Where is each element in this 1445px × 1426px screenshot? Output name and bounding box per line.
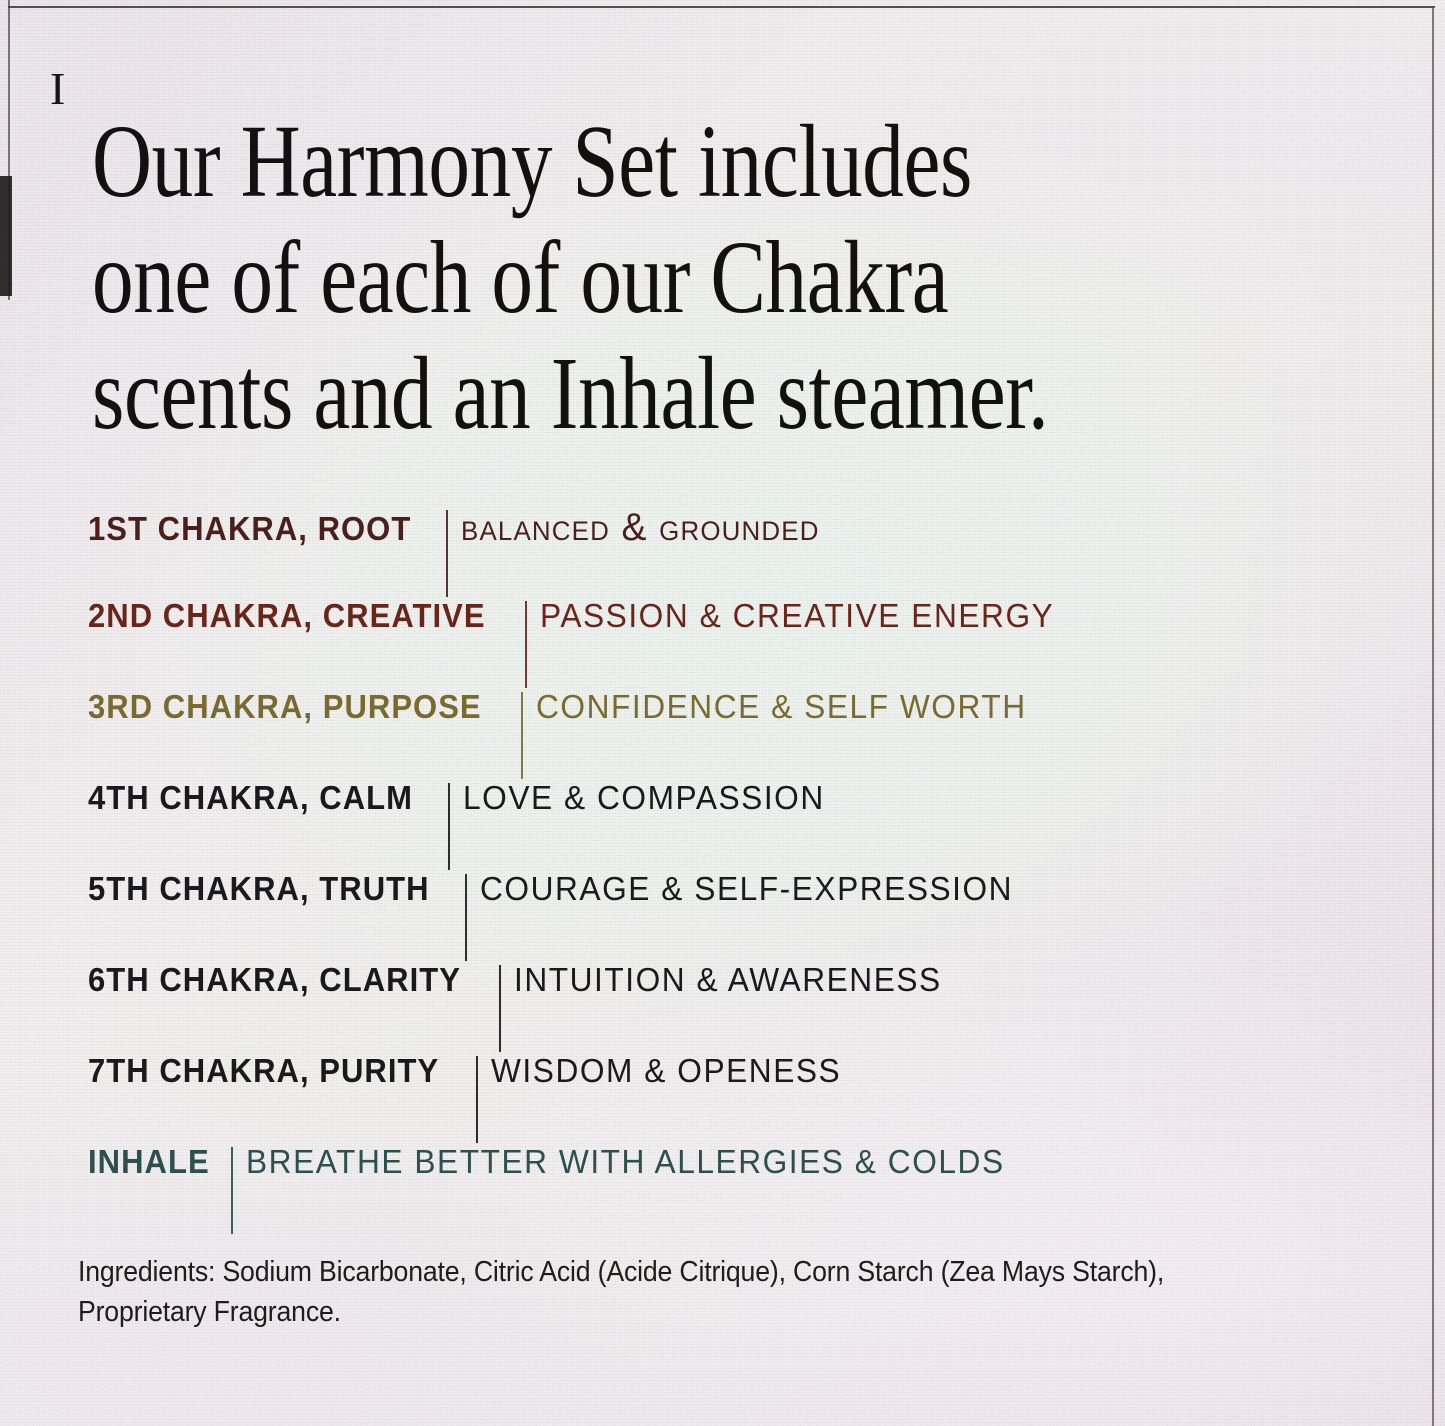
drop-cap-initial: I xyxy=(50,62,65,115)
chakra-description-3: CONFIDENCE & SELF WORTH xyxy=(536,688,1027,726)
chakra-description-5: COURAGE & SELF-EXPRESSION xyxy=(480,870,1013,908)
chakra-label-inhale: INHALE xyxy=(88,1143,210,1181)
chakra-scent-list: 1ST CHAKRA, ROOT BALANCED & GROUNDED 2ND… xyxy=(88,506,1378,1234)
headline-line-2: one of each of our Chakra xyxy=(92,220,1124,336)
chakra-row-6: 6TH CHAKRA, CLARITY INTUITION & AWARENES… xyxy=(88,961,1378,1052)
chakra-row-1: 1ST CHAKRA, ROOT BALANCED & GROUNDED xyxy=(88,506,1378,597)
label-content: I Our Harmony Set includes one of each o… xyxy=(0,0,1445,1426)
chakra-divider-1 xyxy=(446,510,448,597)
headline-line-3: scents and an Inhale steamer. xyxy=(92,336,1124,452)
chakra-description-2: PASSION & CREATIVE ENERGY xyxy=(540,597,1054,635)
chakra-row-5: 5TH CHAKRA, TRUTH COURAGE & SELF-EXPRESS… xyxy=(88,870,1378,961)
ingredients-text: Ingredients: Sodium Bicarbonate, Citric … xyxy=(78,1252,1265,1332)
chakra-divider-inhale xyxy=(231,1147,233,1234)
chakra-label-1: 1ST CHAKRA, ROOT xyxy=(88,510,411,548)
chakra-row-4: 4TH CHAKRA, CALM LOVE & COMPASSION xyxy=(88,779,1378,870)
chakra-row-7: 7TH CHAKRA, PURITY WISDOM & OPENESS xyxy=(88,1052,1378,1143)
chakra-row-3: 3RD CHAKRA, PURPOSE CONFIDENCE & SELF WO… xyxy=(88,688,1378,779)
chakra-label-4: 4TH CHAKRA, CALM xyxy=(88,779,413,817)
headline: Our Harmony Set includes one of each of … xyxy=(92,104,1124,452)
chakra-divider-5 xyxy=(465,874,467,961)
chakra-description-4: LOVE & COMPASSION xyxy=(463,779,825,817)
chakra-description-1: BALANCED & GROUNDED xyxy=(461,506,820,550)
headline-line-1: Our Harmony Set includes xyxy=(92,104,1124,220)
chakra-label-3: 3RD CHAKRA, PURPOSE xyxy=(88,688,482,726)
product-label-card: I Our Harmony Set includes one of each o… xyxy=(0,0,1445,1426)
chakra-description-6: INTUITION & AWARENESS xyxy=(514,961,942,999)
chakra-label-5: 5TH CHAKRA, TRUTH xyxy=(88,870,430,908)
chakra-label-7: 7TH CHAKRA, PURITY xyxy=(88,1052,439,1090)
chakra-label-6: 6TH CHAKRA, CLARITY xyxy=(88,961,461,999)
chakra-divider-2 xyxy=(525,601,527,688)
chakra-divider-4 xyxy=(448,783,450,870)
chakra-description-7: WISDOM & OPENESS xyxy=(491,1052,841,1090)
chakra-divider-7 xyxy=(476,1056,478,1143)
chakra-divider-3 xyxy=(521,692,523,779)
chakra-divider-6 xyxy=(499,965,501,1052)
chakra-row-inhale: INHALE BREATHE BETTER WITH ALLERGIES & C… xyxy=(88,1143,1378,1234)
chakra-label-2: 2ND CHAKRA, CREATIVE xyxy=(88,597,486,635)
chakra-row-2: 2ND CHAKRA, CREATIVE PASSION & CREATIVE … xyxy=(88,597,1378,688)
chakra-description-inhale: BREATHE BETTER WITH ALLERGIES & COLDS xyxy=(246,1143,1005,1181)
